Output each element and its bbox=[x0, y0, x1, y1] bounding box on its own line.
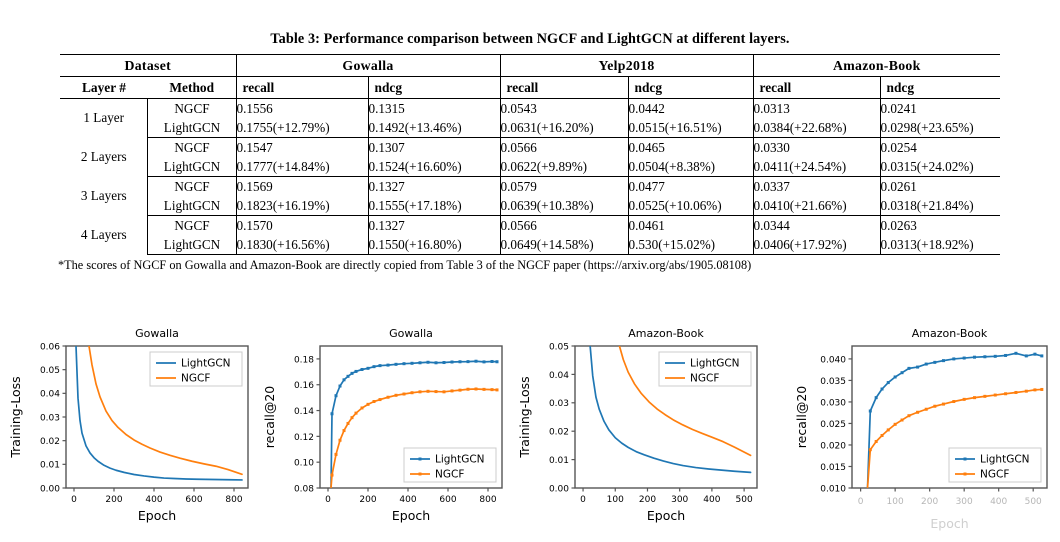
table-row: LightGCN0.1755(+12.79%)0.1492(+13.46%)0.… bbox=[60, 118, 1000, 138]
y-tick-label: 0.10 bbox=[294, 459, 314, 469]
cell-value: 0.1555(+17.18%) bbox=[368, 196, 500, 216]
x-tick-label: 800 bbox=[225, 495, 242, 505]
y-tick-label: 0.04 bbox=[549, 371, 569, 381]
cell-value: 0.0241 bbox=[880, 99, 1000, 119]
x-axis-label: Epoch bbox=[392, 508, 430, 523]
y-tick-label: 0.02 bbox=[40, 437, 60, 447]
cell-value: 0.0566 bbox=[500, 138, 628, 158]
x-tick-label: 400 bbox=[399, 495, 416, 505]
cell-method: LightGCN bbox=[148, 118, 236, 138]
cell-value: 0.0465 bbox=[628, 138, 753, 158]
x-tick-label: 200 bbox=[639, 495, 656, 505]
table-footnote: *The scores of NGCF on Gowalla and Amazo… bbox=[58, 258, 1002, 273]
cell-value: 0.1755(+12.79%) bbox=[236, 118, 368, 138]
legend-label: LightGCN bbox=[181, 357, 231, 369]
chart-gowalla-recall: Gowalla0.080.100.120.140.160.18020040060… bbox=[258, 316, 510, 542]
cell-value: 0.1777(+14.84%) bbox=[236, 157, 368, 177]
x-tick-label: 300 bbox=[671, 495, 688, 505]
x-tick-label: 400 bbox=[990, 497, 1007, 507]
legend-label: NGCF bbox=[690, 372, 719, 384]
legend-label: NGCF bbox=[181, 372, 210, 384]
x-tick-label: 200 bbox=[921, 497, 938, 507]
x-tick-label: 0 bbox=[580, 495, 586, 505]
header-group-amazon-book: Amazon-Book bbox=[753, 55, 1000, 77]
y-tick-label: 0.00 bbox=[549, 484, 569, 494]
cell-value: 0.0622(+9.89%) bbox=[500, 157, 628, 177]
cell-value: 0.1823(+16.19%) bbox=[236, 196, 368, 216]
y-tick-label: 0.00 bbox=[40, 484, 60, 494]
cell-value: 0.0566 bbox=[500, 216, 628, 236]
cell-value: 0.0515(+16.51%) bbox=[628, 118, 753, 138]
cell-method: NGCF bbox=[148, 138, 236, 158]
table-row: 4 LayersNGCF0.15700.13270.05660.04610.03… bbox=[60, 216, 1000, 236]
cell-value: 0.0384(+22.68%) bbox=[753, 118, 880, 138]
cell-value: 0.0543 bbox=[500, 99, 628, 119]
legend-label: NGCF bbox=[435, 468, 464, 480]
table-row: LightGCN0.1830(+16.56%)0.1550(+16.80%)0.… bbox=[60, 235, 1000, 255]
legend-label: LightGCN bbox=[435, 453, 485, 465]
cell-value: 0.0639(+10.38%) bbox=[500, 196, 628, 216]
x-axis-label: Epoch bbox=[930, 516, 968, 531]
cell-value: 0.1569 bbox=[236, 177, 368, 197]
cell-value: 0.1570 bbox=[236, 216, 368, 236]
cell-value: 0.0337 bbox=[753, 177, 880, 197]
cell-layer: 4 Layers bbox=[60, 216, 148, 255]
x-axis-label: Epoch bbox=[138, 508, 176, 523]
chart-amazonbook-training-loss: Amazon-Book0.000.010.020.030.040.0501002… bbox=[513, 316, 765, 542]
y-tick-label: 0.035 bbox=[820, 377, 846, 387]
figure-gowalla-recall: Gowalla0.080.100.120.140.160.18020040060… bbox=[258, 316, 510, 542]
y-tick-label: 0.01 bbox=[549, 456, 569, 466]
y-tick-label: 0.18 bbox=[294, 355, 314, 365]
table-block: Table 3: Performance comparison between … bbox=[0, 0, 1060, 273]
cell-method: LightGCN bbox=[148, 157, 236, 177]
x-tick-label: 400 bbox=[703, 495, 720, 505]
chart-title: Amazon-Book bbox=[628, 327, 704, 340]
chart-title: Amazon-Book bbox=[912, 327, 988, 340]
cell-value: 0.1524(+16.60%) bbox=[368, 157, 500, 177]
y-tick-label: 0.03 bbox=[549, 399, 569, 409]
cell-value: 0.0261 bbox=[880, 177, 1000, 197]
legend-label: NGCF bbox=[980, 468, 1009, 480]
x-axis-label: Epoch bbox=[647, 508, 685, 523]
figure-amazonbook-recall: Amazon-Book0.0100.0150.0200.0250.0300.03… bbox=[790, 316, 1055, 542]
cell-value: 0.1315 bbox=[368, 99, 500, 119]
table-caption: Table 3: Performance comparison between … bbox=[0, 0, 1060, 54]
y-tick-label: 0.05 bbox=[549, 342, 569, 352]
x-tick-label: 300 bbox=[956, 497, 973, 507]
y-tick-label: 0.08 bbox=[294, 484, 314, 494]
cell-method: NGCF bbox=[148, 177, 236, 197]
cell-value: 0.0442 bbox=[628, 99, 753, 119]
cell-value: 0.0313 bbox=[753, 99, 880, 119]
chart-legend: LightGCNNGCF bbox=[949, 448, 1041, 482]
cell-layer: 2 Layers bbox=[60, 138, 148, 177]
table-row: 1 LayerNGCF0.15560.13150.05430.04420.031… bbox=[60, 99, 1000, 119]
cell-value: 0.0631(+16.20%) bbox=[500, 118, 628, 138]
cell-value: 0.0461 bbox=[628, 216, 753, 236]
y-tick-label: 0.020 bbox=[820, 441, 846, 451]
x-tick-label: 0 bbox=[71, 495, 77, 505]
cell-value: 0.0263 bbox=[880, 216, 1000, 236]
performance-comparison-table: Dataset Gowalla Yelp2018 Amazon-Book Lay… bbox=[60, 54, 1000, 255]
y-tick-label: 0.030 bbox=[820, 398, 846, 408]
header-dataset-label: Dataset bbox=[60, 55, 236, 77]
cell-value: 0.0318(+21.84%) bbox=[880, 196, 1000, 216]
cell-value: 0.530(+15.02%) bbox=[628, 235, 753, 255]
cell-value: 0.0406(+17.92%) bbox=[753, 235, 880, 255]
table-row: 2 LayersNGCF0.15470.13070.05660.04650.03… bbox=[60, 138, 1000, 158]
x-tick-label: 400 bbox=[145, 495, 162, 505]
cell-layer: 1 Layer bbox=[60, 99, 148, 138]
table-header-groups: Dataset Gowalla Yelp2018 Amazon-Book bbox=[60, 55, 1000, 77]
chart-title: Gowalla bbox=[389, 327, 433, 340]
y-tick-label: 0.010 bbox=[820, 484, 846, 494]
y-tick-label: 0.06 bbox=[40, 342, 60, 352]
figure-amazonbook-training-loss: Amazon-Book0.000.010.020.030.040.0501002… bbox=[513, 316, 765, 542]
cell-value: 0.0315(+24.02%) bbox=[880, 157, 1000, 177]
x-tick-label: 200 bbox=[359, 495, 376, 505]
legend-label: LightGCN bbox=[980, 453, 1030, 465]
table-head: Dataset Gowalla Yelp2018 Amazon-Book Lay… bbox=[60, 55, 1000, 99]
cell-value: 0.0254 bbox=[880, 138, 1000, 158]
cell-value: 0.1327 bbox=[368, 177, 500, 197]
header-group-yelp2018: Yelp2018 bbox=[500, 55, 753, 77]
cell-method: NGCF bbox=[148, 216, 236, 236]
cell-value: 0.0298(+23.65%) bbox=[880, 118, 1000, 138]
table-row: 3 LayersNGCF0.15690.13270.05790.04770.03… bbox=[60, 177, 1000, 197]
y-tick-label: 0.16 bbox=[294, 381, 314, 391]
x-tick-label: 500 bbox=[1025, 497, 1042, 507]
table-body: 1 LayerNGCF0.15560.13150.05430.04420.031… bbox=[60, 99, 1000, 255]
x-tick-label: 100 bbox=[607, 495, 624, 505]
header-method-label: Method bbox=[148, 77, 236, 99]
y-axis-label: recall@20 bbox=[794, 386, 809, 448]
y-tick-label: 0.01 bbox=[40, 461, 60, 471]
y-tick-label: 0.12 bbox=[294, 433, 314, 443]
legend-label: LightGCN bbox=[690, 357, 740, 369]
cell-value: 0.0313(+18.92%) bbox=[880, 235, 1000, 255]
cell-method: LightGCN bbox=[148, 235, 236, 255]
x-tick-label: 600 bbox=[439, 495, 456, 505]
y-axis-label: Training-Loss bbox=[517, 376, 532, 458]
x-tick-label: 600 bbox=[185, 495, 202, 505]
cell-value: 0.0344 bbox=[753, 216, 880, 236]
chart-title: Gowalla bbox=[135, 327, 179, 340]
table-header-metrics: Layer # Method recall ndcg recall ndcg r… bbox=[60, 77, 1000, 99]
y-tick-label: 0.025 bbox=[820, 420, 846, 430]
x-tick-label: 0 bbox=[325, 495, 331, 505]
figures-row: Gowalla0.000.010.020.030.040.050.0602004… bbox=[0, 316, 1060, 542]
cell-value: 0.1550(+16.80%) bbox=[368, 235, 500, 255]
y-tick-label: 0.040 bbox=[820, 355, 846, 365]
table-row: LightGCN0.1777(+14.84%)0.1524(+16.60%)0.… bbox=[60, 157, 1000, 177]
cell-value: 0.1492(+13.46%) bbox=[368, 118, 500, 138]
chart-gowalla-training-loss: Gowalla0.000.010.020.030.040.050.0602004… bbox=[4, 316, 256, 542]
cell-value: 0.0649(+14.58%) bbox=[500, 235, 628, 255]
cell-value: 0.0504(+8.38%) bbox=[628, 157, 753, 177]
y-tick-label: 0.04 bbox=[40, 390, 60, 400]
cell-layer: 3 Layers bbox=[60, 177, 148, 216]
cell-value: 0.0330 bbox=[753, 138, 880, 158]
cell-value: 0.1307 bbox=[368, 138, 500, 158]
cell-value: 0.0525(+10.06%) bbox=[628, 196, 753, 216]
cell-value: 0.0579 bbox=[500, 177, 628, 197]
header-metric-amazon-ndcg: ndcg bbox=[880, 77, 1000, 99]
y-tick-label: 0.015 bbox=[820, 463, 846, 473]
y-tick-label: 0.14 bbox=[294, 407, 314, 417]
y-tick-label: 0.02 bbox=[549, 428, 569, 438]
table-row: LightGCN0.1823(+16.19%)0.1555(+17.18%)0.… bbox=[60, 196, 1000, 216]
x-tick-label: 500 bbox=[736, 495, 753, 505]
cell-method: NGCF bbox=[148, 99, 236, 119]
y-tick-label: 0.05 bbox=[40, 366, 60, 376]
figure-gowalla-training-loss: Gowalla0.000.010.020.030.040.050.0602004… bbox=[4, 316, 256, 542]
cell-value: 0.1830(+16.56%) bbox=[236, 235, 368, 255]
header-metric-amazon-recall: recall bbox=[753, 77, 880, 99]
x-tick-label: 800 bbox=[479, 495, 496, 505]
cell-value: 0.1547 bbox=[236, 138, 368, 158]
header-metric-gowalla-ndcg: ndcg bbox=[368, 77, 500, 99]
header-layer-label: Layer # bbox=[60, 77, 148, 99]
x-tick-label: 100 bbox=[887, 497, 904, 507]
chart-legend: LightGCNNGCF bbox=[659, 352, 751, 386]
cell-value: 0.1556 bbox=[236, 99, 368, 119]
header-group-gowalla: Gowalla bbox=[236, 55, 500, 77]
x-tick-label: 0 bbox=[858, 497, 864, 507]
cell-value: 0.1327 bbox=[368, 216, 500, 236]
cell-value: 0.0477 bbox=[628, 177, 753, 197]
cell-method: LightGCN bbox=[148, 196, 236, 216]
header-metric-yelp-ndcg: ndcg bbox=[628, 77, 753, 99]
y-axis-label: Training-Loss bbox=[8, 376, 23, 458]
x-tick-label: 200 bbox=[105, 495, 122, 505]
chart-legend: LightGCNNGCF bbox=[150, 352, 242, 386]
header-metric-gowalla-recall: recall bbox=[236, 77, 368, 99]
header-metric-yelp-recall: recall bbox=[500, 77, 628, 99]
cell-value: 0.0411(+24.54%) bbox=[753, 157, 880, 177]
y-axis-label: recall@20 bbox=[262, 386, 277, 448]
cell-value: 0.0410(+21.66%) bbox=[753, 196, 880, 216]
chart-legend: LightGCNNGCF bbox=[404, 448, 496, 482]
chart-amazonbook-recall: Amazon-Book0.0100.0150.0200.0250.0300.03… bbox=[790, 316, 1055, 542]
y-tick-label: 0.03 bbox=[40, 413, 60, 423]
